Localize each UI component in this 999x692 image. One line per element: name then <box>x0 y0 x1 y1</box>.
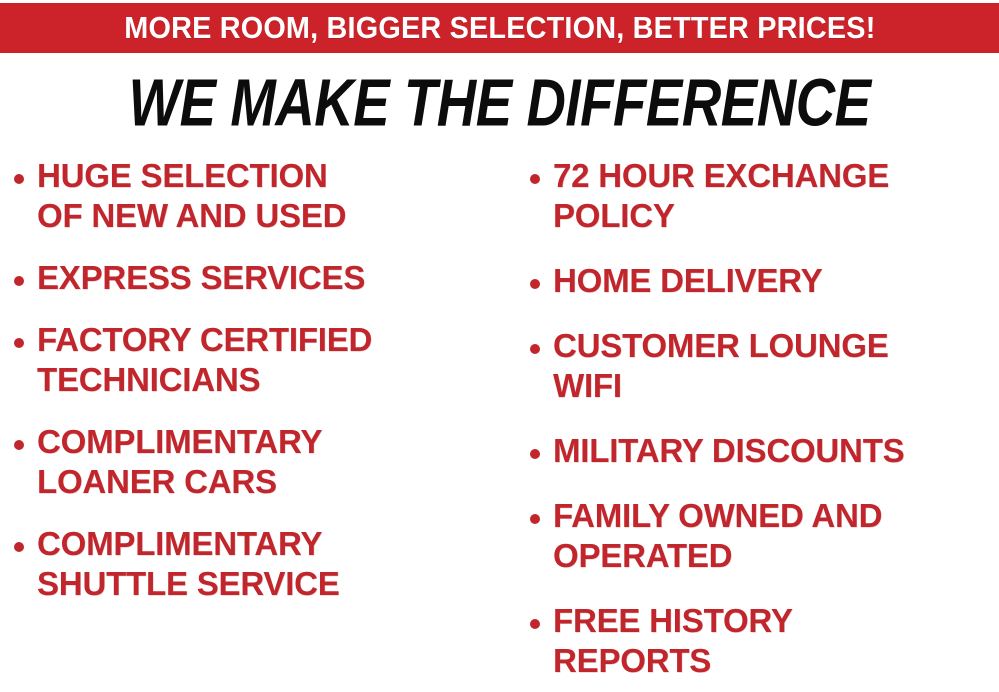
benefits-column-left: HUGE SELECTION OF NEW AND USED EXPRESS S… <box>0 156 508 626</box>
headline: WE MAKE THE DIFFERENCE <box>0 70 999 138</box>
list-item-label: 72 HOUR EXCHANGE POLICY <box>553 156 889 236</box>
list-item-label: HOME DELIVERY <box>553 261 822 301</box>
list-item: HUGE SELECTION OF NEW AND USED <box>14 156 508 236</box>
list-item-label: COMPLIMENTARY LOANER CARS <box>37 422 322 502</box>
advertisement-banner: MORE ROOM, BIGGER SELECTION, BETTER PRIC… <box>0 0 999 692</box>
list-item: HOME DELIVERY <box>530 261 999 301</box>
dot-icon <box>530 514 540 524</box>
dot-icon <box>14 338 24 348</box>
dot-icon <box>14 440 24 450</box>
list-item: MILITARY DISCOUNTS <box>530 431 999 471</box>
list-item: EXPRESS SERVICES <box>14 258 508 298</box>
list-item-label: CUSTOMER LOUNGE WIFI <box>553 326 889 406</box>
list-item-label: EXPRESS SERVICES <box>37 258 365 298</box>
benefits-column-right: 72 HOUR EXCHANGE POLICY HOME DELIVERY CU… <box>508 156 999 692</box>
list-item-label: FREE HISTORY REPORTS <box>553 601 793 681</box>
dot-icon <box>530 619 540 629</box>
promo-banner-text: MORE ROOM, BIGGER SELECTION, BETTER PRIC… <box>124 10 875 46</box>
dot-icon <box>14 542 24 552</box>
list-item-label: FACTORY CERTIFIED TECHNICIANS <box>37 320 372 400</box>
dot-icon <box>14 276 24 286</box>
list-item: CUSTOMER LOUNGE WIFI <box>530 326 999 406</box>
list-item-label: COMPLIMENTARY SHUTTLE SERVICE <box>37 524 340 604</box>
list-item: COMPLIMENTARY LOANER CARS <box>14 422 508 502</box>
dot-icon <box>530 174 540 184</box>
list-item: FACTORY CERTIFIED TECHNICIANS <box>14 320 508 400</box>
list-item: FREE HISTORY REPORTS <box>530 601 999 681</box>
list-item-label: FAMILY OWNED AND OPERATED <box>553 496 882 576</box>
benefits-columns: HUGE SELECTION OF NEW AND USED EXPRESS S… <box>0 156 999 692</box>
headline-text: WE MAKE THE DIFFERENCE <box>128 71 870 138</box>
dot-icon <box>14 174 24 184</box>
list-item-label: HUGE SELECTION OF NEW AND USED <box>37 156 346 236</box>
promo-banner: MORE ROOM, BIGGER SELECTION, BETTER PRIC… <box>0 3 999 53</box>
list-item: COMPLIMENTARY SHUTTLE SERVICE <box>14 524 508 604</box>
dot-icon <box>530 449 540 459</box>
dot-icon <box>530 279 540 289</box>
list-item: FAMILY OWNED AND OPERATED <box>530 496 999 576</box>
dot-icon <box>530 344 540 354</box>
list-item: 72 HOUR EXCHANGE POLICY <box>530 156 999 236</box>
list-item-label: MILITARY DISCOUNTS <box>553 431 904 471</box>
